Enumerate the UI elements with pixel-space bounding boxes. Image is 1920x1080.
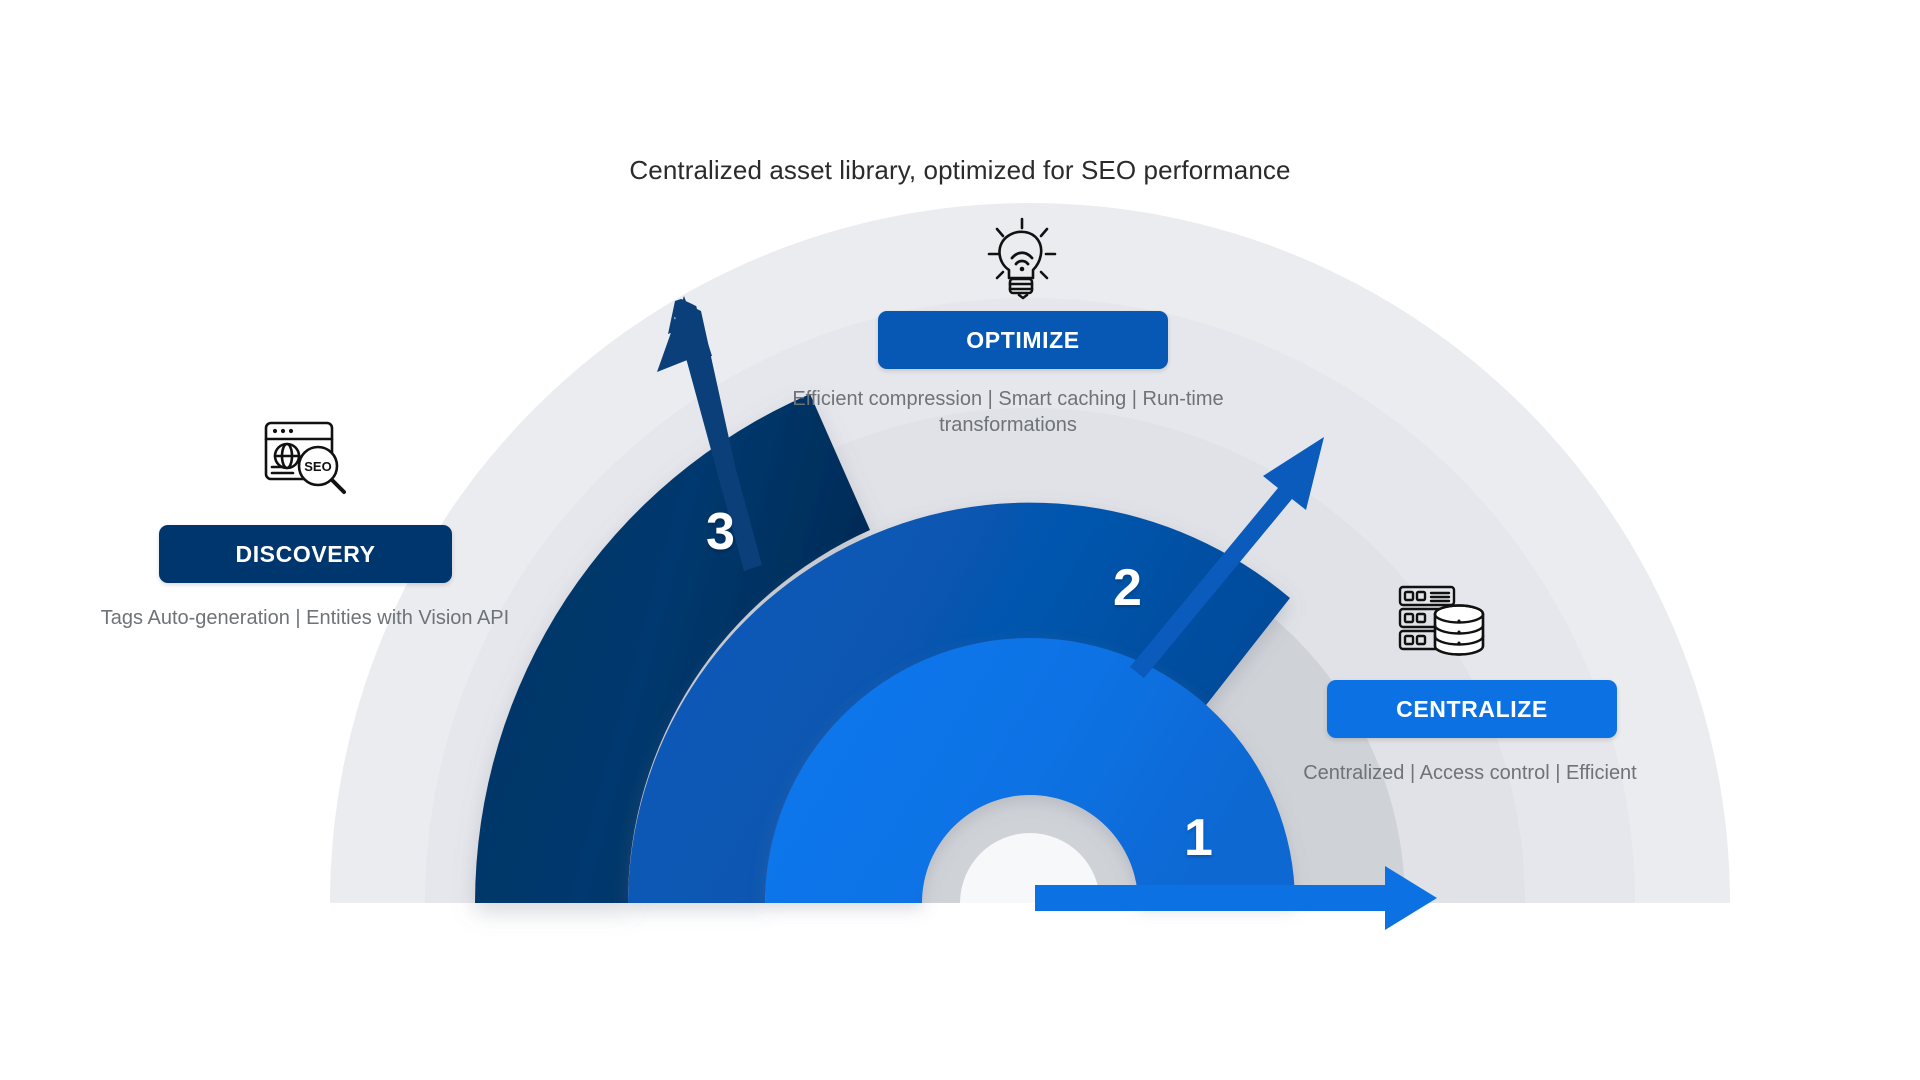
step-number-2: 2 [1113,562,1142,614]
seo-search-icon: SEO [266,423,344,492]
label-discovery[interactable]: DISCOVERY [159,525,452,583]
caption-optimize: Efficient compression | Smart caching | … [748,386,1268,439]
diagram-canvas: SEO [0,0,1920,1080]
caption-discovery: Tags Auto-generation | Entities with Vis… [10,605,600,631]
step-number-1: 1 [1184,812,1213,864]
label-optimize[interactable]: OPTIMIZE [878,311,1168,369]
step-number-3: 3 [706,506,735,558]
label-centralize[interactable]: CENTRALIZE [1327,680,1617,738]
page-title: Centralized asset library, optimized for… [0,155,1920,186]
caption-centralize: Centralized | Access control | Efficient [1210,760,1730,786]
svg-text:SEO: SEO [304,459,331,474]
